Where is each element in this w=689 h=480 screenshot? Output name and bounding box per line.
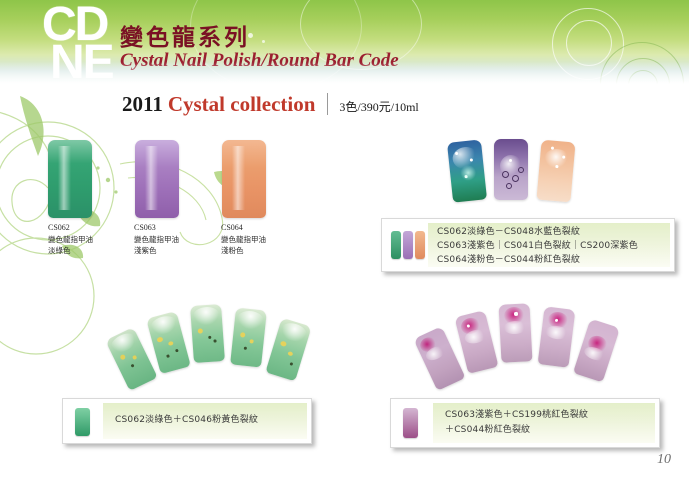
header-swirl-2 [566, 20, 612, 66]
crackle-dot [506, 183, 512, 189]
callout-line-0: CS062淡綠色－CS048水藍色裂紋 [437, 226, 580, 240]
art-nail-tr-2 [494, 139, 528, 200]
art-nail-br-4 [538, 306, 576, 367]
art-nail-br-3 [499, 303, 533, 363]
slide-page: CD NE 變色龍系列 Cystal Nail Polish/Round Bar… [0, 0, 689, 480]
callout-line-1: ＋CS044粉紅色裂紋 [445, 424, 530, 438]
product-name: 變色龍指甲油 [48, 234, 93, 245]
title-divider [327, 93, 328, 115]
art-nail-br-1 [413, 326, 465, 391]
crackle-dot [518, 167, 524, 173]
mini-swatch-cs064 [415, 231, 425, 259]
mini-swatch-green [75, 408, 90, 436]
crackle-gold [132, 355, 137, 360]
product-color: 淡綠色 [48, 245, 93, 256]
crackle-dark [244, 347, 247, 350]
crackle-silver [108, 330, 139, 356]
mini-swatch-purple [403, 408, 418, 438]
crackle-gold [287, 351, 293, 356]
mini-swatch-cs063 [403, 231, 413, 259]
collection-name: Cystal collection [168, 92, 316, 116]
product-name: 變色龍指甲油 [221, 234, 266, 245]
swatch-nail-cs063 [135, 140, 179, 218]
crackle-silver [503, 320, 527, 334]
art-nail-br-5 [573, 319, 620, 383]
product-name: 變色龍指甲油 [134, 234, 179, 245]
crackle-dark [131, 364, 135, 368]
callout-bottom-left: CS062淡綠色＋CS046粉黃色裂紋 [62, 398, 312, 444]
product-label-0: CS062 變色龍指甲油 淡綠色 [48, 222, 93, 256]
callout-line-0: CS062淡綠色＋CS046粉黃色裂紋 [115, 414, 258, 428]
callout-line-0: CS063淺紫色＋CS199桃紅色裂紋 [445, 409, 588, 423]
crackle-gold [240, 332, 245, 337]
crackle-gold [198, 328, 203, 333]
crackle-gold [249, 339, 253, 343]
art-nail-bl-2 [146, 311, 191, 374]
callout-bottom-right: CS063淺紫色＋CS199桃紅色裂紋 ＋CS044粉紅色裂紋 [390, 398, 660, 448]
callout-line-1: CS063淺紫色｜CS041白色裂紋｜CS200深紫色 [437, 240, 638, 254]
page-number: 10 [657, 452, 671, 468]
header-fade [0, 62, 689, 88]
header-title-cn: 變色龍系列 [120, 18, 250, 52]
crackle-gold [119, 354, 126, 361]
crackle-dark [213, 339, 216, 342]
crackle-silver [192, 306, 220, 326]
crackle-gold [168, 341, 174, 346]
glitter [514, 312, 518, 316]
crackle-dark [166, 354, 169, 357]
glitter [509, 159, 512, 162]
glitter [464, 175, 467, 178]
crackle-silver [545, 325, 569, 341]
callout-top-right: CS062淡綠色－CS048水藍色裂紋 CS063淺紫色｜CS041白色裂紋｜C… [381, 218, 675, 272]
collection-title-row: 2011Cystal collection3色/390元/10ml [122, 92, 542, 122]
product-color: 淺紫色 [134, 245, 179, 256]
crackle-dark [208, 336, 211, 339]
header-dot-2 [262, 40, 265, 43]
crackle-dark [175, 349, 179, 353]
glitter [458, 164, 478, 182]
crackle-dark [290, 362, 294, 366]
swatch-nail-cs062 [48, 140, 92, 218]
art-nail-tr-3 [536, 140, 575, 203]
header-band: CD NE 變色龍系列 Cystal Nail Polish/Round Bar… [0, 0, 689, 88]
collection-year: 2011 [122, 92, 163, 116]
product-code: CS063 [134, 222, 179, 234]
crackle-gold [280, 341, 287, 348]
crackle-gold [156, 336, 163, 342]
collection-price: 3色/390元/10ml [339, 100, 418, 114]
callout-line-2: CS064淺粉色－CS044粉紅色裂紋 [437, 254, 580, 268]
product-color: 淺粉色 [221, 245, 266, 256]
art-nail-tr-1 [447, 139, 487, 202]
crackle-silver [149, 313, 179, 336]
crackle-silver [236, 310, 265, 331]
product-label-2: CS064 變色龍指甲油 淺粉色 [221, 222, 266, 256]
product-label-1: CS063 變色龍指甲油 淺紫色 [134, 222, 179, 256]
glitter [555, 165, 558, 168]
crackle-dot [502, 171, 509, 178]
swatch-shine [58, 146, 71, 210]
art-nail-bl-4 [230, 308, 267, 368]
product-code: CS064 [221, 222, 266, 234]
art-nail-bl-5 [265, 318, 311, 382]
art-nail-bl-3 [190, 304, 225, 363]
product-code: CS062 [48, 222, 93, 234]
mini-swatch-cs062 [391, 231, 401, 259]
swatch-shine [145, 146, 158, 210]
swatch-nail-cs064 [222, 140, 266, 218]
art-nail-br-2 [454, 310, 498, 374]
swatch-shine [232, 146, 245, 210]
crackle-dot [512, 175, 519, 182]
art-nail-bl-1 [105, 327, 157, 391]
